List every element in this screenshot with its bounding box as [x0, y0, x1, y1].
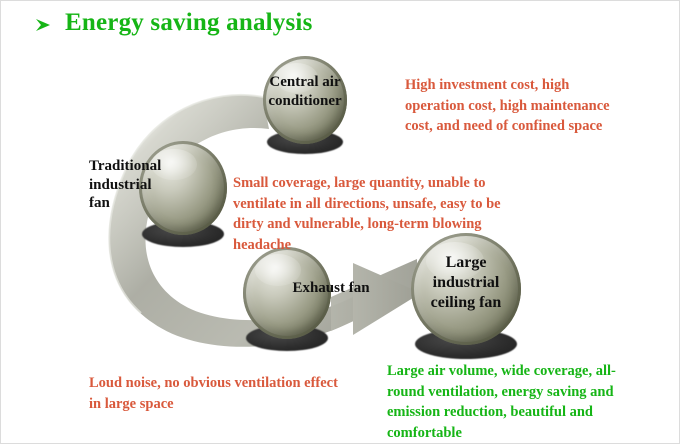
node-label: Central air conditioner — [257, 73, 353, 110]
caption-central-air-conditioner: High investment cost, high operation cos… — [405, 75, 615, 137]
caption-exhaust-fan: Loud noise, no obvious ventilation effec… — [89, 373, 339, 414]
page-title-row: Energy saving analysis — [33, 9, 313, 37]
node-traditional-industrial-fan[interactable]: Traditional industrial fan — [139, 141, 227, 247]
node-exhaust-fan[interactable]: Exhaust fan — [243, 247, 331, 351]
arrow-bullet-icon — [33, 15, 53, 35]
node-label: Large industrial ceiling fan — [413, 253, 519, 312]
node-label: Exhaust fan — [251, 279, 411, 298]
caption-traditional-industrial-fan: Small coverage, large quantity, unable t… — [233, 173, 509, 255]
page-title: Energy saving analysis — [65, 9, 313, 37]
slide-canvas: Energy saving analysis Ce — [0, 0, 680, 444]
node-label: Traditional industrial fan — [89, 157, 219, 213]
node-central-air-conditioner[interactable]: Central air conditioner — [263, 56, 347, 152]
caption-large-industrial-ceiling-fan: Large air volume, wide coverage, all-rou… — [387, 361, 627, 443]
